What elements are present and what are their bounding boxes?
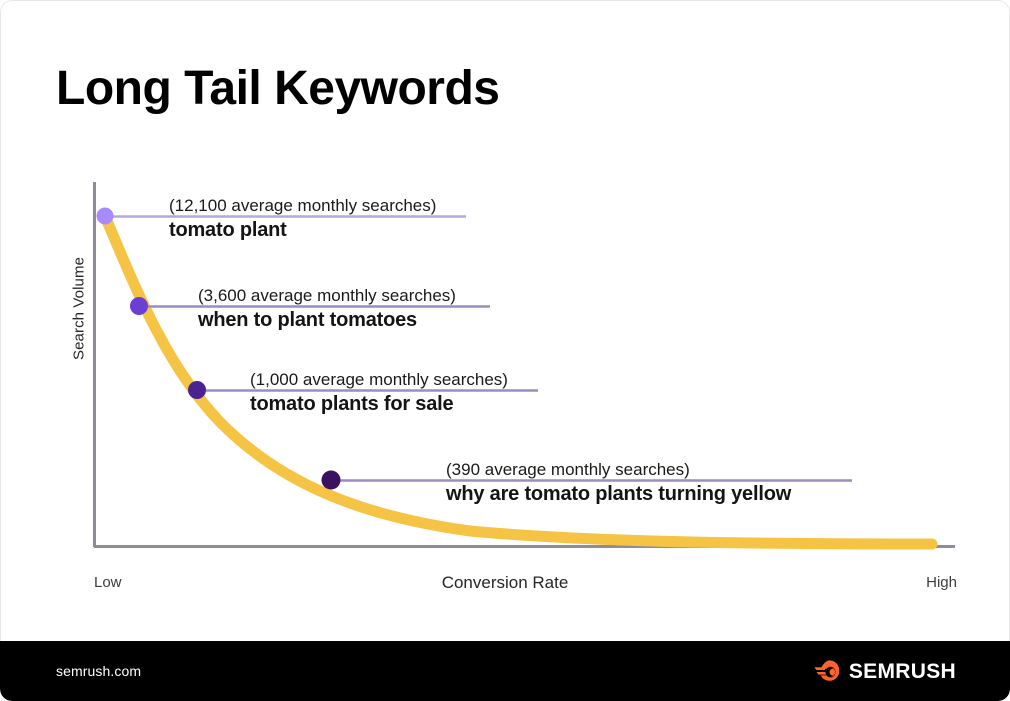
annotation-1: tomato plant (12,100 average monthly sea…: [169, 186, 589, 248]
x-axis-tick-high: High: [915, 574, 957, 591]
data-point-why-are-tomato-plants-turning-yellow[interactable]: [322, 471, 341, 490]
footer-url[interactable]: semrush.com: [56, 663, 141, 679]
annotation-4-volume: (390 average monthly searches): [446, 460, 690, 480]
annotation-3-volume: (1,000 average monthly searches): [250, 370, 508, 390]
footer-wordmark: SEMRUSH: [849, 661, 956, 682]
x-axis-tick-low: Low: [94, 574, 122, 591]
annotation-2-keyword: when to plant tomatoes: [198, 309, 417, 332]
annotation-4-keyword: why are tomato plants turning yellow: [446, 483, 791, 506]
annotation-3: tomato plants for sale (1,000 average mo…: [250, 360, 670, 422]
annotation-1-keyword: tomato plant: [169, 219, 287, 242]
data-point-tomato-plants-for-sale[interactable]: [188, 381, 206, 399]
y-axis-label: Search Volume: [71, 229, 88, 389]
x-axis-label: Conversion Rate: [0, 573, 1010, 593]
annotation-2-volume: (3,600 average monthly searches): [198, 286, 456, 306]
infographic-card: Long Tail Keywords tomato plant (12,100 …: [0, 0, 1010, 701]
annotation-1-volume: (12,100 average monthly searches): [169, 196, 436, 216]
data-point-tomato-plant[interactable]: [97, 208, 114, 225]
annotation-2: when to plant tomatoes (3,600 average mo…: [198, 276, 618, 338]
footer-brand: SEMRUSH: [814, 659, 956, 683]
annotation-4: why are tomato plants turning yellow (39…: [446, 450, 986, 512]
long-tail-chart: tomato plant (12,100 average monthly sea…: [0, 0, 1010, 641]
data-point-when-to-plant-tomatoes[interactable]: [130, 297, 148, 315]
annotation-3-keyword: tomato plants for sale: [250, 393, 453, 416]
footer-bar: semrush.com SEMRUSH: [0, 641, 1010, 701]
semrush-comet-icon: [814, 659, 840, 683]
